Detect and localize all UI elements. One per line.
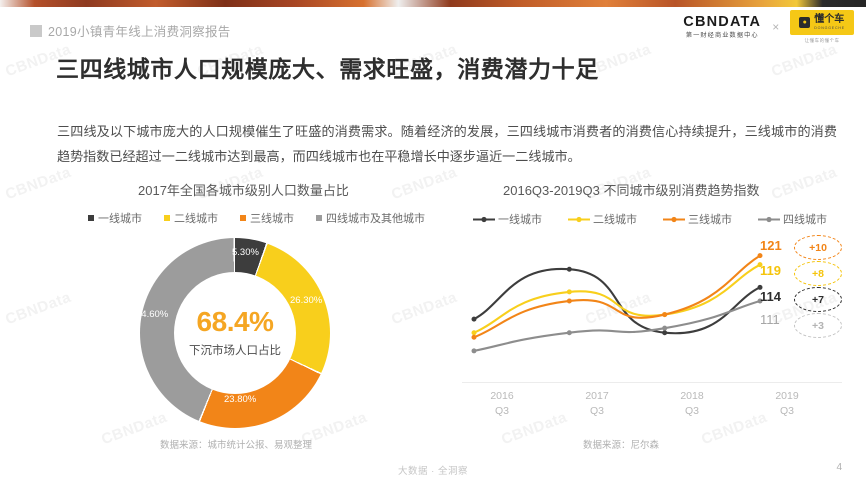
series-point	[472, 335, 477, 340]
donut-center: 68.4% 下沉市场人口占比	[174, 272, 296, 394]
slide: CBNData CBNData CBNData CBNData CBNData …	[0, 0, 866, 493]
watermark: CBNData	[389, 289, 459, 328]
series-line-四线城市	[474, 301, 760, 351]
series-end-label-tier3: 121	[760, 238, 782, 253]
series-end-label-tier1: 114	[760, 289, 781, 304]
partner-name: 懂个车DONGGECHE	[814, 15, 845, 30]
x-axis-tick: 2019Q3	[765, 389, 809, 419]
report-kicker: 2019小镇青年线上消费洞察报告	[30, 21, 231, 40]
cbndata-logo: CBNDATA 第一财经商业数据中心	[683, 15, 761, 39]
delta-badge-tier1: +7	[794, 287, 842, 312]
series-point	[567, 330, 572, 335]
right-chart-title: 2016Q3-2019Q3 不同城市级别消费趋势指数	[503, 180, 759, 199]
watermark: CBNData	[389, 164, 459, 203]
partner-tag: DONGGECHE	[814, 27, 845, 31]
series-point	[472, 330, 477, 335]
partner-tagline: 让懂车的懂个车	[805, 38, 840, 44]
left-chart-title: 2017年全国各城市级别人口数量占比	[138, 180, 349, 199]
page-title: 三四线城市人口规模庞大、需求旺盛，消费潜力十足	[56, 50, 599, 84]
watermark: CBNData	[769, 41, 839, 80]
series-point	[567, 289, 572, 294]
logo-block: CBNDATA 第一财经商业数据中心 × ● 懂个车DONGGECHE 让懂车的…	[683, 10, 854, 44]
left-chart-source: 数据来源：城市统计公报、易观整理	[160, 437, 312, 451]
right-chart-source: 数据来源：尼尔森	[583, 437, 659, 451]
x-axis-line	[462, 382, 842, 383]
footer-tagline: 大数据 · 全洞察	[398, 463, 468, 477]
legend-swatch-icon	[240, 215, 246, 221]
legend-line-icon	[663, 215, 685, 224]
series-end-label-tier4: 111	[760, 312, 780, 327]
series-point	[662, 330, 667, 335]
donut-slice-label-tier1: 5.30%	[232, 247, 259, 258]
legend-item: 三线城市	[663, 211, 732, 227]
x-axis-tick: 2016Q3	[480, 389, 524, 419]
series-point	[567, 267, 572, 272]
delta-badge-tier4: +3	[794, 313, 842, 338]
donut-slice-label-tier2: 26.30%	[290, 295, 322, 306]
series-point	[662, 312, 667, 317]
right-chart-legend: 一线城市 二线城市 三线城市 四线城市	[473, 211, 827, 227]
partner-logo-box: ● 懂个车DONGGECHE	[790, 10, 854, 35]
kicker-label: 2019小镇青年线上消费洞察报告	[48, 21, 231, 40]
legend-item: 四线城市及其他城市	[316, 210, 425, 226]
watermark: CBNData	[3, 289, 73, 328]
series-end-label-tier2: 119	[760, 263, 781, 278]
partner-mark-icon: ●	[799, 17, 810, 28]
decorative-top-strip	[0, 0, 866, 7]
delta-badge-tier3: +10	[794, 235, 842, 260]
left-chart-legend: 一线城市 二线城市 三线城市 四线城市及其他城市	[88, 210, 425, 226]
line-chart: 2016Q3 2017Q3 2018Q3 2019Q3 121 119 114 …	[452, 232, 852, 432]
kicker-square-icon	[30, 25, 42, 37]
legend-item: 四线城市	[758, 211, 827, 227]
legend-line-icon	[758, 215, 780, 224]
series-point	[662, 326, 667, 331]
legend-line-icon	[568, 215, 590, 224]
series-point	[758, 253, 763, 258]
series-point	[472, 348, 477, 353]
cbndata-subtitle: 第一财经商业数据中心	[686, 33, 759, 39]
watermark: CBNData	[769, 164, 839, 203]
legend-item: 一线城市	[88, 210, 142, 226]
watermark: CBNData	[3, 164, 73, 203]
partner-logo: ● 懂个车DONGGECHE 让懂车的懂个车	[790, 10, 854, 44]
page-number: 4	[836, 462, 842, 473]
legend-item: 二线城市	[568, 211, 637, 227]
series-point	[567, 298, 572, 303]
cbndata-wordmark: CBNDATA	[683, 15, 761, 30]
line-chart-plot	[452, 232, 852, 387]
legend-swatch-icon	[164, 215, 170, 221]
delta-badge-tier2: +8	[794, 261, 842, 286]
legend-swatch-icon	[88, 215, 94, 221]
logo-separator-icon: ×	[770, 20, 781, 34]
legend-line-icon	[473, 215, 495, 224]
donut-center-value: 68.4%	[197, 308, 274, 336]
legend-item: 三线城市	[240, 210, 294, 226]
donut-chart: 68.4% 下沉市场人口占比 5.30% 26.30% 23.80% 44.60…	[140, 238, 330, 428]
donut-slice-label-tier4: 44.60%	[136, 309, 168, 320]
series-line-一线城市	[474, 269, 760, 333]
legend-item: 一线城市	[473, 211, 542, 227]
legend-item: 二线城市	[164, 210, 218, 226]
x-axis-tick: 2017Q3	[575, 389, 619, 419]
series-point	[472, 317, 477, 322]
x-axis-tick: 2018Q3	[670, 389, 714, 419]
donut-slice-label-tier3: 23.80%	[224, 394, 256, 405]
donut-center-caption: 下沉市场人口占比	[189, 342, 281, 358]
lede-paragraph: 三四线及以下城市庞大的人口规模催生了旺盛的消费需求。随着经济的发展，三四线城市消…	[57, 119, 837, 169]
legend-swatch-icon	[316, 215, 322, 221]
